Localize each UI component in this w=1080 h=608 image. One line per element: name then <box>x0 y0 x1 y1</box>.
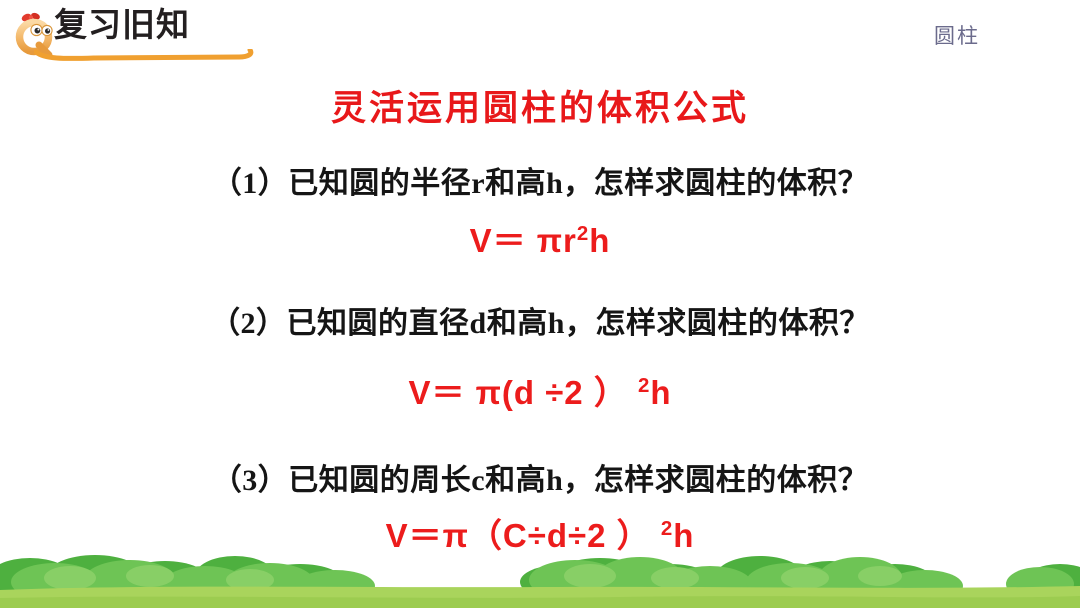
section-badge-label: 复习旧知 <box>54 6 190 46</box>
slide-root: 复习旧知 圆柱 灵活运用圆柱的体积公式 （1）已知圆的半径r和高h，怎样求圆柱的… <box>0 0 1080 608</box>
slide-header: 复习旧知 圆柱 <box>0 0 1080 70</box>
formula-3-exponent: 2 <box>661 517 673 540</box>
qa-block-1: （1）已知圆的半径r和高h，怎样求圆柱的体积？ V＝ πr2h <box>0 158 1080 262</box>
section-badge: 复习旧知 <box>14 4 284 60</box>
formula-2-exponent: 2 <box>638 374 650 397</box>
formula-1: V＝ πr2h <box>0 214 1080 262</box>
page-title: 灵活运用圆柱的体积公式 <box>0 80 1080 131</box>
question-text-3: （3）已知圆的周长c和高h，怎样求圆柱的体积？ <box>0 455 1080 499</box>
formula-2-suffix: h <box>650 374 671 411</box>
badge-underline-swoosh <box>34 48 256 60</box>
formula-1-suffix: h <box>589 222 610 259</box>
formula-1-prefix: V＝ πr <box>470 222 577 259</box>
question-text-2: （2）已知圆的直径d和高h，怎样求圆柱的体积？ <box>0 298 1080 342</box>
question-text-1: （1）已知圆的半径r和高h，怎样求圆柱的体积？ <box>0 158 1080 202</box>
formula-2: V＝ π(d ÷2 ） 2h <box>0 366 1080 414</box>
grass-ground-shadow <box>0 596 1080 608</box>
formula-2-prefix: V＝ π(d ÷2 ） <box>408 374 638 411</box>
formula-1-exponent: 2 <box>577 222 589 245</box>
qa-block-2: （2）已知圆的直径d和高h，怎样求圆柱的体积？ V＝ π(d ÷2 ） 2h <box>0 298 1080 414</box>
grass-and-bushes-decoration <box>0 538 1080 608</box>
chapter-label: 圆柱 <box>934 20 980 50</box>
